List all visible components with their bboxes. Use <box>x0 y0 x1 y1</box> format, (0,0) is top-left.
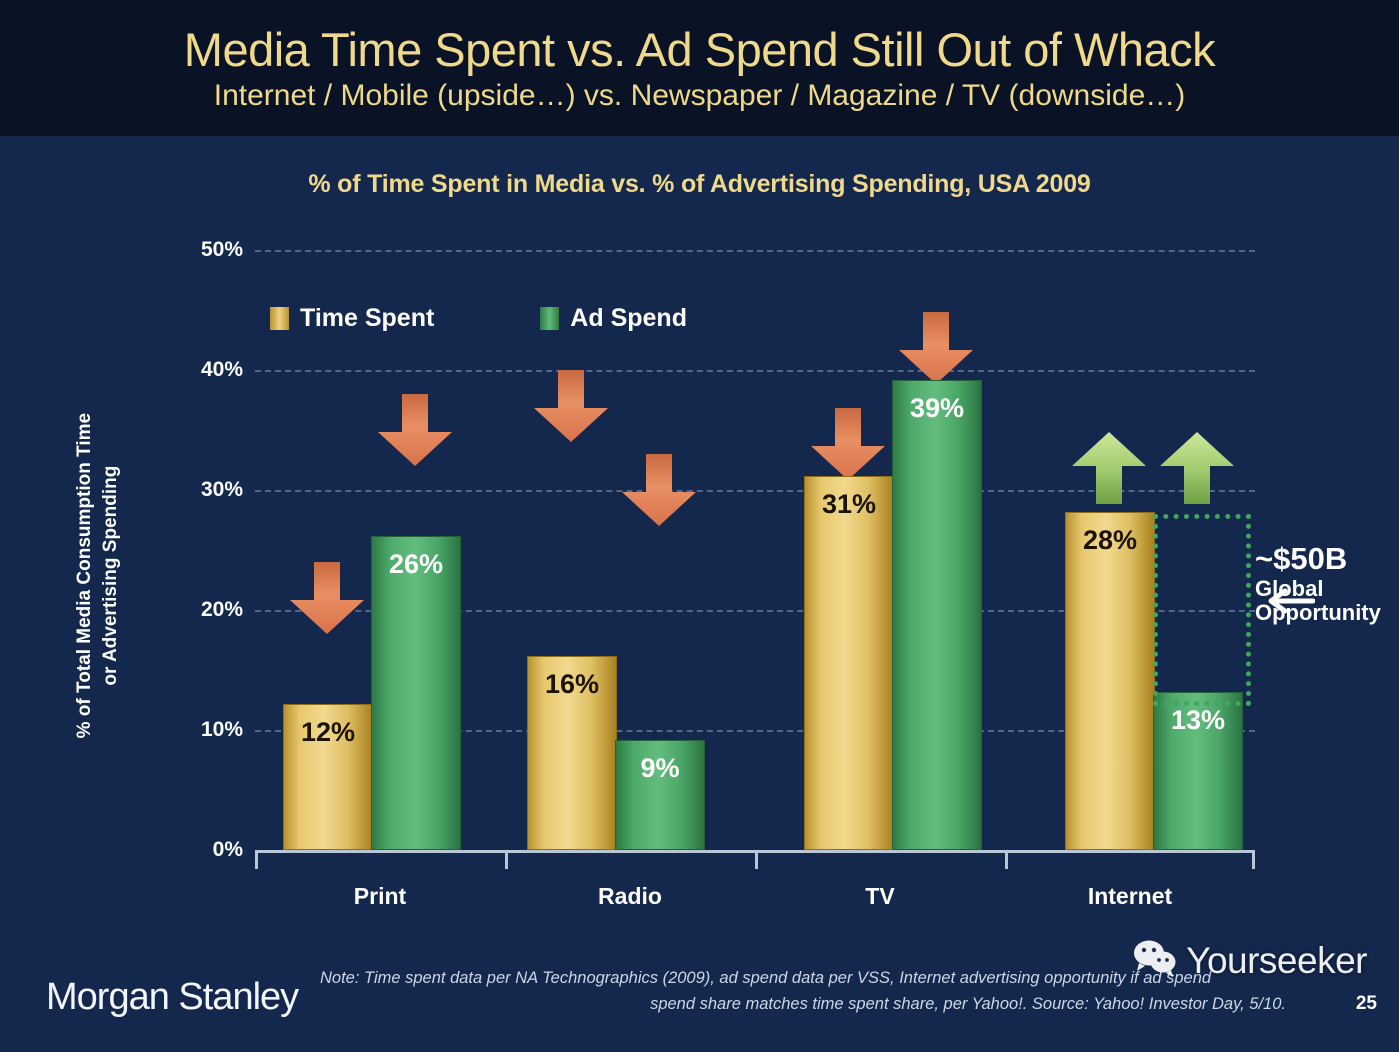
x-tick-3 <box>1005 853 1008 869</box>
bar-tv-ad-spend: 39% <box>892 380 982 850</box>
legend-swatch-time-spent <box>270 307 289 330</box>
bar-tv-time-spent: 31% <box>804 476 894 850</box>
opportunity-box <box>1153 514 1251 706</box>
down-arrow-radio-ad-spend <box>620 454 698 528</box>
opportunity-line2: Global <box>1255 577 1381 602</box>
down-arrow-print-time-spent <box>288 562 366 636</box>
down-arrow-radio-time-spent <box>532 370 610 444</box>
chart-legend: Time Spent Ad Spend <box>270 304 687 333</box>
gridline-40 <box>255 370 1255 372</box>
x-tick-2 <box>755 853 758 869</box>
bar-label-internet-time-spent: 28% <box>1066 525 1154 556</box>
slide-footer: Morgan Stanley Note: Time spent data per… <box>0 940 1399 1052</box>
up-arrow-internet-time-spent <box>1070 430 1148 504</box>
y-tick-0: 0% <box>123 838 243 862</box>
down-arrow-tv-ad-spend <box>897 312 975 386</box>
opportunity-annotation: ~$50B Global Opportunity <box>1255 542 1381 626</box>
down-arrow-print-ad-spend <box>376 394 454 468</box>
legend-label-ad-spend: Ad Spend <box>570 304 687 333</box>
slide-title: Media Time Spent vs. Ad Spend Still Out … <box>184 25 1215 74</box>
y-tick-50: 50% <box>123 238 243 262</box>
y-tick-40: 40% <box>123 358 243 382</box>
x-label-tv: TV <box>865 883 894 910</box>
page-number: 25 <box>1356 993 1377 1015</box>
legend-item-ad-spend: Ad Spend <box>540 304 687 333</box>
x-tick-1 <box>505 853 508 869</box>
legend-item-time-spent: Time Spent <box>270 304 434 333</box>
x-label-internet: Internet <box>1088 883 1172 910</box>
up-arrow-internet-ad-spend <box>1158 430 1236 504</box>
slide-subtitle: Internet / Mobile (upside…) vs. Newspape… <box>214 80 1186 112</box>
slide-body: % of Time Spent in Media vs. % of Advert… <box>0 136 1399 1052</box>
bar-print-ad-spend: 26% <box>371 536 461 850</box>
bar-radio-time-spent: 16% <box>527 656 617 850</box>
bar-print-time-spent: 12% <box>283 704 373 850</box>
y-axis-title-line2: or Advertising Spending <box>100 466 121 686</box>
bar-label-print-ad-spend: 26% <box>372 549 460 580</box>
morgan-stanley-logo: Morgan Stanley <box>46 976 298 1019</box>
down-arrow-tv-time-spent <box>809 408 887 482</box>
y-axis-title: % of Total Media Consumption Time or Adv… <box>72 316 124 836</box>
legend-swatch-ad-spend <box>540 307 559 330</box>
gridline-50 <box>255 250 1255 252</box>
x-label-radio: Radio <box>598 883 662 910</box>
watermark: Yourseeker <box>1132 938 1367 983</box>
legend-label-time-spent: Time Spent <box>300 304 434 333</box>
opportunity-amount: ~$50B <box>1255 542 1381 577</box>
opportunity-line3: Opportunity <box>1255 601 1381 626</box>
x-tick-4 <box>1252 853 1255 869</box>
chart-title: % of Time Spent in Media vs. % of Advert… <box>0 170 1399 199</box>
bar-label-tv-time-spent: 31% <box>805 489 893 520</box>
bar-label-internet-ad-spend: 13% <box>1154 705 1242 736</box>
bar-radio-ad-spend: 9% <box>615 740 705 850</box>
x-tick-0 <box>255 853 258 869</box>
watermark-text: Yourseeker <box>1186 940 1367 982</box>
wechat-icon <box>1132 938 1178 983</box>
slide-header: Media Time Spent vs. Ad Spend Still Out … <box>0 0 1399 136</box>
y-tick-10: 10% <box>123 718 243 742</box>
plot-area: 0% 10% 20% 30% 40% 50% 12% 26% <box>255 250 1255 850</box>
y-tick-20: 20% <box>123 598 243 622</box>
bar-label-print-time-spent: 12% <box>284 717 372 748</box>
y-tick-30: 30% <box>123 478 243 502</box>
bar-label-tv-ad-spend: 39% <box>893 393 981 424</box>
x-label-print: Print <box>354 883 406 910</box>
bar-label-radio-ad-spend: 9% <box>616 753 704 784</box>
y-axis-title-line1: % of Total Media Consumption Time <box>74 413 95 738</box>
footnote-line2: spend share matches time spent share, pe… <box>320 992 1330 1018</box>
x-axis: Print Radio TV Internet <box>255 850 1255 871</box>
bar-internet-time-spent: 28% <box>1065 512 1155 850</box>
bar-label-radio-time-spent: 16% <box>528 669 616 700</box>
bar-internet-ad-spend: 13% <box>1153 692 1243 850</box>
